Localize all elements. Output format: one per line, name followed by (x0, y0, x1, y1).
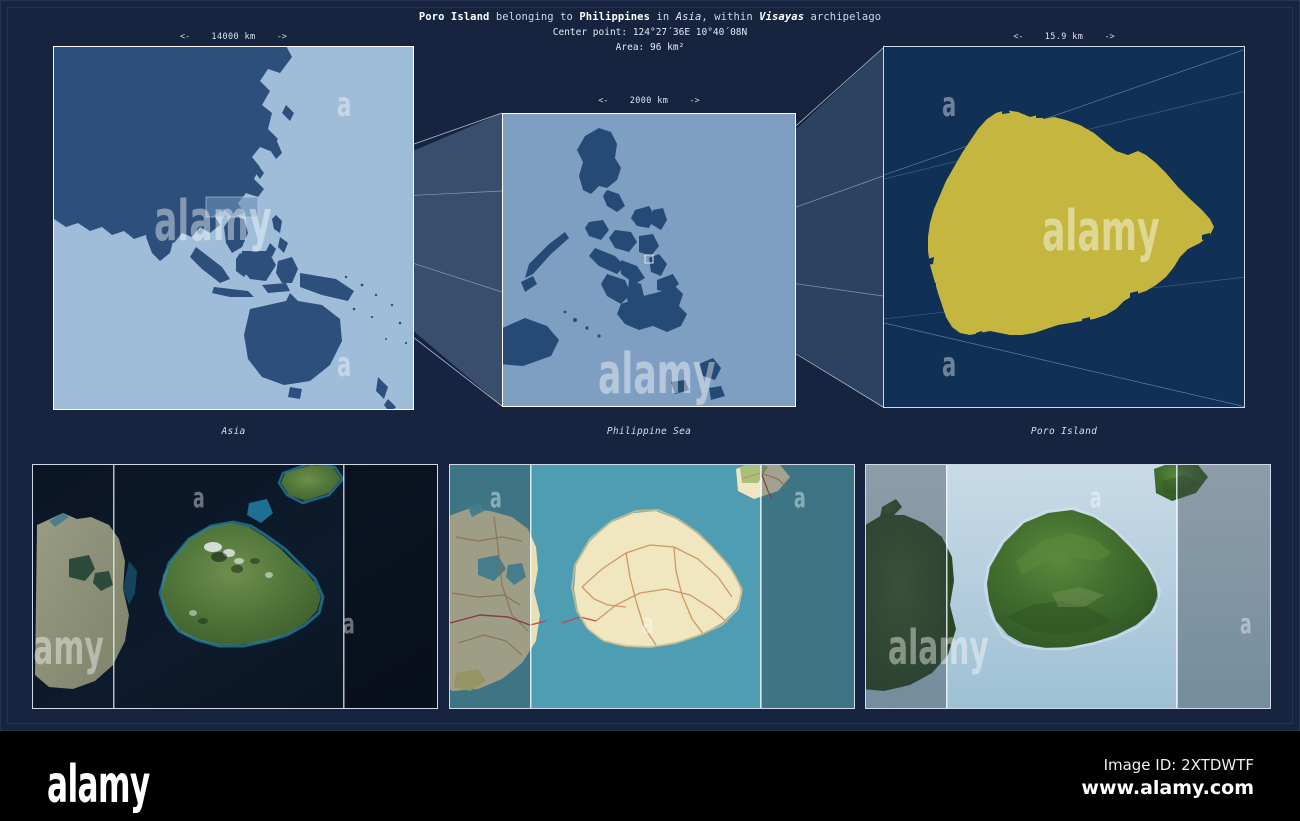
scale-right-arrow: -> (1104, 32, 1114, 42)
bottom-panel-row: alamy a a (1, 464, 1300, 709)
asia-map-svg (54, 47, 414, 410)
osm-map-svg (450, 465, 855, 709)
figure-canvas: Poro Island belonging to Philippines in … (0, 0, 1300, 731)
panel-caption-asia: Asia (53, 426, 414, 437)
scale-value: 15.9 km (1045, 32, 1084, 42)
scalebar-poro-island: <- 15.9 km -> (883, 32, 1245, 42)
map-panel-philippine-sea[interactable]: alamy (502, 113, 796, 407)
alamy-logo: alamy (47, 755, 150, 815)
scale-left-arrow: <- (1013, 32, 1023, 42)
top-panel-row: <- 14000 km -> (1, 1, 1300, 451)
image-id-label: Image ID: 2XTDWTF (1104, 756, 1254, 774)
scale-value: 14000 km (211, 32, 255, 42)
satellite-imagery-panel[interactable]: alamy a a (32, 464, 438, 709)
map-panel-asia[interactable]: a a alamy (53, 46, 414, 410)
philippines-map-svg (503, 114, 796, 407)
alamy-website-label: www.alamy.com (1081, 777, 1254, 799)
osm-style-topographic-panel[interactable]: a a a (449, 464, 855, 709)
scale-left-arrow: <- (598, 96, 608, 106)
scalebar-philippine-sea: <- 2000 km -> (502, 96, 796, 106)
physical-relief-panel[interactable]: alamy a a (865, 464, 1271, 709)
scale-left-arrow: <- (180, 32, 190, 42)
panel-caption-poro-island: Poro Island (883, 426, 1245, 437)
alamy-footer-bar: alamy Image ID: 2XTDWTF www.alamy.com (0, 731, 1300, 821)
relief-map-svg (866, 465, 1271, 709)
poro-island-shape-svg (884, 47, 1245, 408)
scalebar-asia: <- 14000 km -> (53, 32, 414, 42)
scale-right-arrow: -> (277, 32, 287, 42)
map-panel-poro-island[interactable]: a a alamy (883, 46, 1245, 408)
scale-value: 2000 km (630, 96, 669, 106)
panel-caption-philippine-sea: Philippine Sea (502, 426, 796, 437)
scale-right-arrow: -> (689, 96, 699, 106)
satellite-map-svg (33, 465, 438, 709)
